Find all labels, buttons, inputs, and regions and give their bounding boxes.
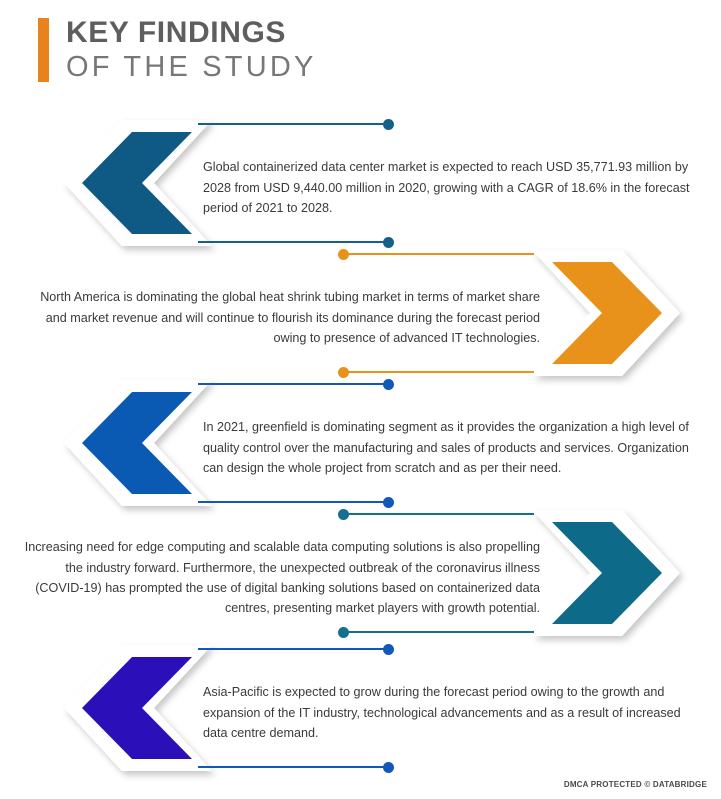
chevron-left-icon (62, 378, 214, 508)
connector-stroke (198, 123, 384, 125)
connector-line (198, 118, 394, 130)
finding-row: Increasing need for edge computing and s… (0, 508, 721, 638)
finding-text: Asia-Pacific is expected to grow during … (203, 671, 703, 755)
page-title: KEY FINDINGS OF THE STUDY (66, 18, 317, 82)
connector-line (198, 378, 394, 390)
chevron-left-icon (62, 118, 214, 248)
finding-text: Global containerized data center market … (203, 146, 703, 230)
finding-text: Increasing need for edge computing and s… (22, 536, 540, 620)
chevron-right-icon (530, 508, 682, 638)
connector-line (338, 366, 534, 378)
connector-dot (383, 762, 394, 773)
page-header: KEY FINDINGS OF THE STUDY (38, 18, 317, 82)
header-accent-bar (38, 18, 49, 82)
finding-row: In 2021, greenfield is dominating segmen… (0, 378, 721, 508)
connector-line (198, 236, 394, 248)
connector-line (338, 248, 534, 260)
finding-row: North America is dominating the global h… (0, 248, 721, 378)
finding-row: Asia-Pacific is expected to grow during … (0, 643, 721, 773)
copyright-notice: DMCA PROTECTED © DATABRIDGE (564, 780, 707, 789)
connector-line (338, 626, 534, 638)
connector-stroke (348, 253, 534, 255)
connector-stroke (348, 371, 534, 373)
finding-text: North America is dominating the global h… (22, 276, 540, 360)
connector-dot (383, 237, 394, 248)
connector-dot (383, 119, 394, 130)
connector-dot (383, 644, 394, 655)
connector-stroke (198, 383, 384, 385)
connector-stroke (198, 241, 384, 243)
title-primary: KEY FINDINGS (66, 18, 317, 48)
connector-dot (383, 497, 394, 508)
connector-line (198, 643, 394, 655)
title-secondary: OF THE STUDY (66, 53, 317, 82)
connector-line (338, 508, 534, 520)
finding-text: In 2021, greenfield is dominating segmen… (203, 406, 703, 490)
connector-line (198, 496, 394, 508)
connector-stroke (198, 766, 384, 768)
finding-row: Global containerized data center market … (0, 118, 721, 248)
connector-stroke (198, 501, 384, 503)
connector-stroke (348, 631, 534, 633)
connector-dot (383, 379, 394, 390)
connector-stroke (198, 648, 384, 650)
chevron-left-icon (62, 643, 214, 773)
connector-line (198, 761, 394, 773)
chevron-right-icon (530, 248, 682, 378)
connector-stroke (348, 513, 534, 515)
